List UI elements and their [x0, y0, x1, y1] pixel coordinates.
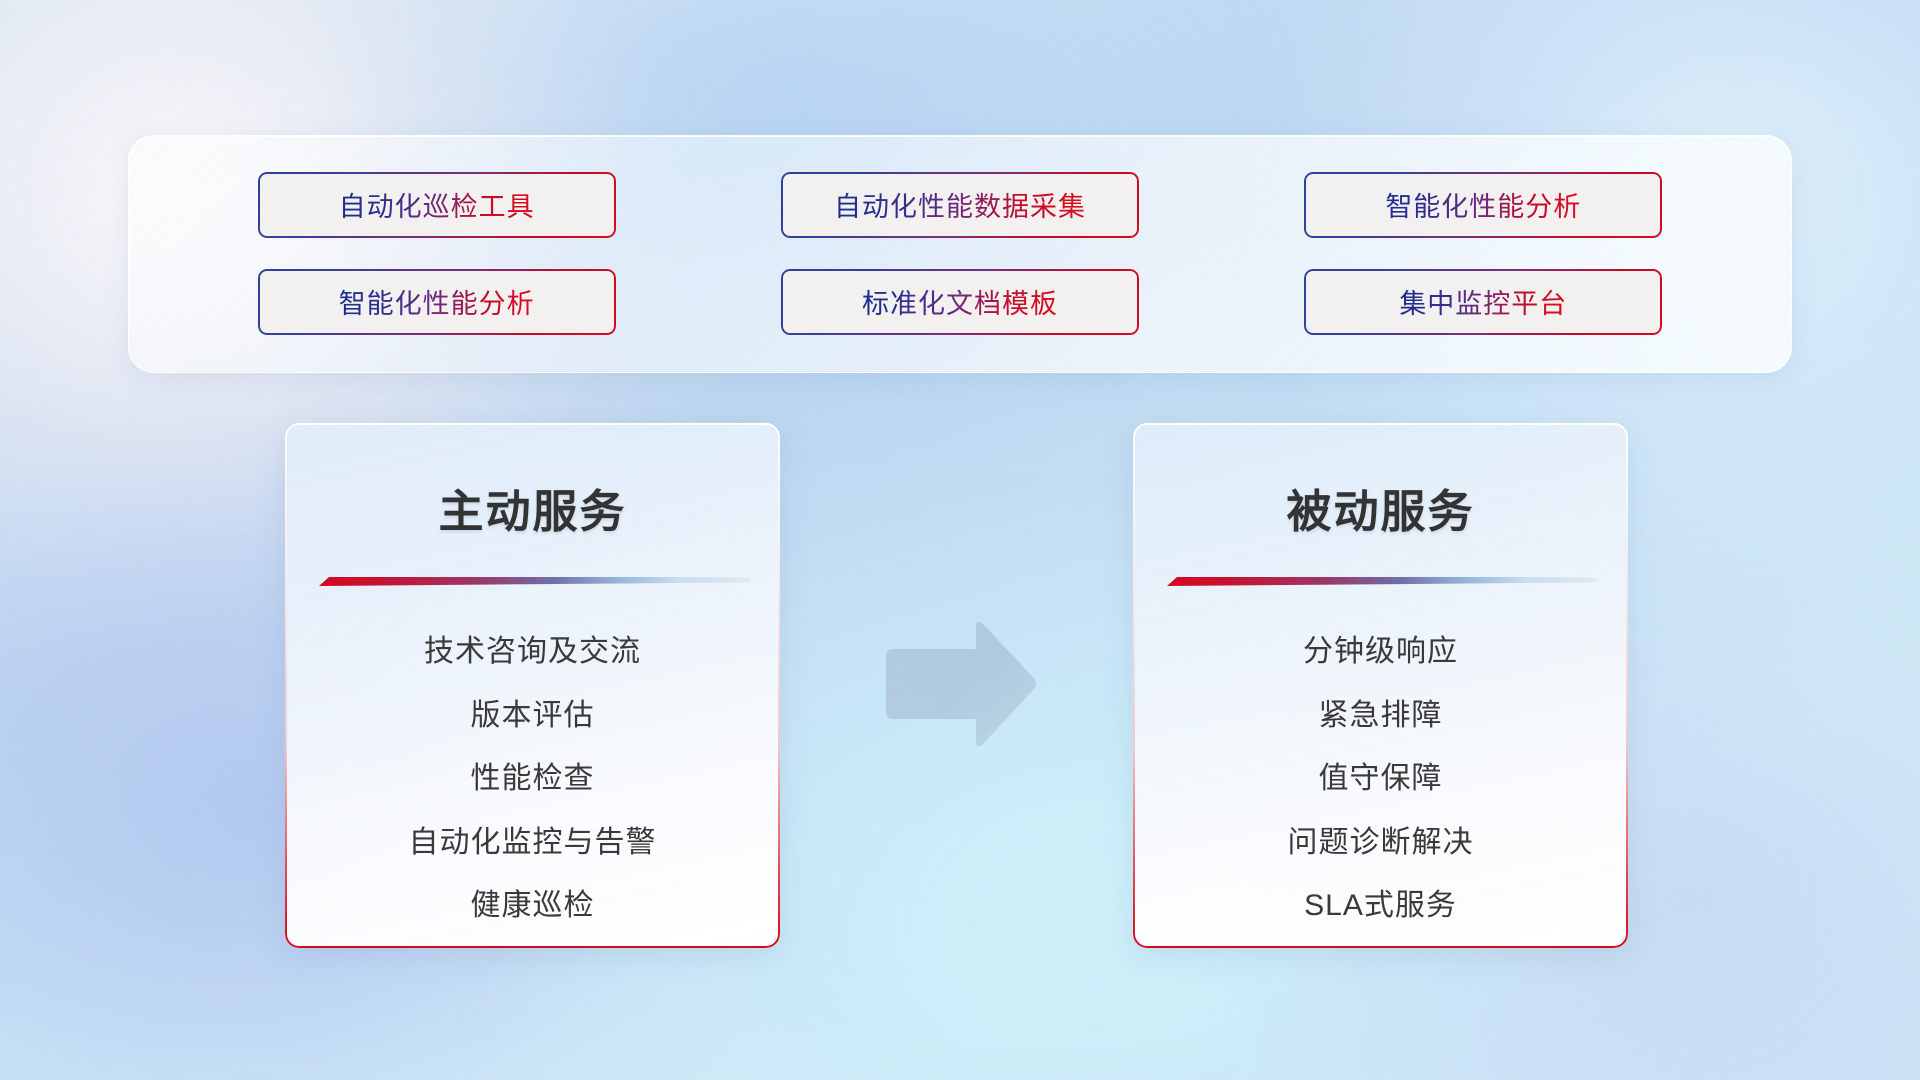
- proactive-service-list: 技术咨询及交流 版本评估 性能检查 自动化监控与告警 健康巡检: [287, 633, 778, 925]
- capability-tag-2[interactable]: 自动化性能数据采集: [781, 172, 1139, 238]
- capability-tag-3[interactable]: 智能化性能分析: [1304, 172, 1662, 238]
- capability-panel: 自动化巡检工具 自动化性能数据采集 智能化性能分析 智能化性能分析 标准化文档模…: [128, 135, 1792, 373]
- capability-tag-grid: 自动化巡检工具 自动化性能数据采集 智能化性能分析 智能化性能分析 标准化文档模…: [129, 136, 1791, 372]
- capability-tag-4[interactable]: 智能化性能分析: [258, 269, 616, 335]
- list-item: 性能检查: [471, 760, 595, 798]
- list-item: SLA式服务: [1304, 887, 1457, 925]
- list-item: 版本评估: [471, 697, 595, 735]
- list-item: 紧急排障: [1319, 697, 1443, 735]
- capability-tag-label: 智能化性能分析: [1385, 185, 1581, 224]
- proactive-card-title: 主动服务: [287, 475, 778, 540]
- list-item: 自动化监控与告警: [409, 824, 657, 862]
- proactive-service-card: 主动服务 技术咨询及交流 版本评估 性能检查 自动化监控与告警 健康巡检: [285, 423, 780, 948]
- capability-tag-6[interactable]: 集中监控平台: [1304, 269, 1662, 335]
- capability-tag-label: 智能化性能分析: [339, 282, 535, 321]
- capability-tag-label: 集中监控平台: [1399, 282, 1567, 321]
- reactive-card-divider: [1167, 577, 1599, 586]
- proactive-card-divider: [319, 577, 751, 586]
- reactive-service-card: 被动服务 分钟级响应 紧急排障 值守保障 问题诊断解决 SLA式服务: [1133, 423, 1628, 948]
- reactive-service-list: 分钟级响应 紧急排障 值守保障 问题诊断解决 SLA式服务: [1135, 633, 1626, 925]
- right-arrow-icon: [880, 620, 1040, 750]
- capability-tag-label: 自动化巡检工具: [339, 185, 535, 224]
- list-item: 技术咨询及交流: [424, 633, 641, 671]
- capability-tag-label: 自动化性能数据采集: [834, 185, 1086, 224]
- list-item: 健康巡检: [471, 887, 595, 925]
- capability-tag-1[interactable]: 自动化巡检工具: [258, 172, 616, 238]
- reactive-card-title: 被动服务: [1135, 475, 1626, 540]
- capability-tag-label: 标准化文档模板: [862, 282, 1058, 321]
- list-item: 分钟级响应: [1303, 633, 1458, 671]
- capability-tag-5[interactable]: 标准化文档模板: [781, 269, 1139, 335]
- list-item: 值守保障: [1319, 760, 1443, 798]
- list-item: 问题诊断解决: [1288, 824, 1474, 862]
